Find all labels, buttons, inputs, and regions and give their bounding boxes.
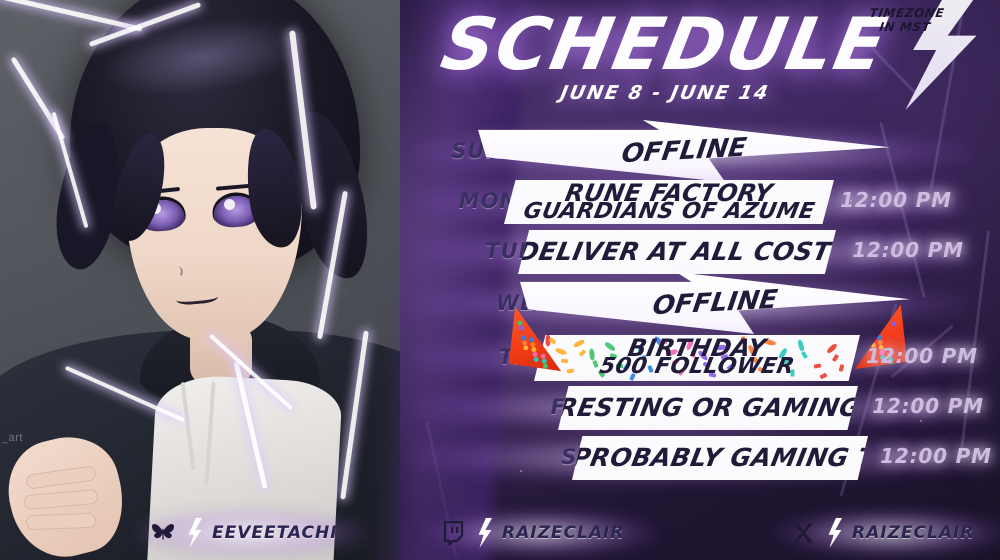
x-icon[interactable] <box>790 520 816 546</box>
stream-time: 12:00 PM <box>880 444 992 468</box>
social-handle: RAIZECLAIR <box>502 523 624 543</box>
hat-dot <box>523 345 528 350</box>
hat-dot <box>543 364 548 369</box>
schedule-row: SATPROBABLY GAMING TBH12:00 PM <box>400 432 1000 484</box>
timezone-line-1: TIMEZONE <box>869 6 946 20</box>
stream-time: 12:00 PM <box>852 238 964 262</box>
stream-time: 12:00 PM <box>872 394 984 418</box>
social-link-x[interactable]: RAIZECLAIR <box>790 514 974 552</box>
stream-subtitle: GUARDIANS OF AZUME <box>502 200 837 224</box>
stream-banner: BIRTHDAY500 FOLLOWER <box>534 335 860 381</box>
stream-title: DELIVER AT ALL COSTS <box>515 238 838 266</box>
twitch-icon[interactable] <box>440 520 466 546</box>
butterfly-icon[interactable] <box>150 520 176 546</box>
date-range: JUNE 8 - JUNE 14 <box>428 82 902 104</box>
eye-highlight <box>224 199 235 210</box>
artist-watermark: _art <box>2 432 23 444</box>
character-artwork: _art <box>0 0 432 560</box>
stream-time: 12:00 PM <box>840 188 952 212</box>
stream-banner: RUNE FACTORYGUARDIANS OF AZUME <box>504 180 834 224</box>
social-link-bluesky[interactable]: EEVEETACHI <box>150 514 338 552</box>
day-label-mon: MON <box>422 189 518 213</box>
schedule-rows: SUNOFFLINEMONRUNE FACTORYGUARDIANS OF AZ… <box>400 126 1000 486</box>
social-handle: EEVEETACHI <box>212 523 338 543</box>
schedule-row: SUNOFFLINE <box>400 126 1000 178</box>
timezone-note: TIMEZONE IN MST <box>844 6 968 34</box>
stream-time: 12:00 PM <box>866 344 978 368</box>
schedule-row: TUEDELIVER AT ALL COSTS12:00 PM <box>400 226 1000 278</box>
schedule-row: WEDOFFLINE <box>400 278 1000 330</box>
schedule-graphic: _art SCHEDULE JUNE 8 - JUNE 14 TIMEZONE … <box>0 0 1000 560</box>
schedule-row: THURBIRTHDAY500 FOLLOWER12:00 PM <box>400 332 1000 384</box>
social-handle: RAIZECLAIR <box>852 523 974 543</box>
schedule-row: FRIRESTING OR GAMING?12:00 PM <box>400 382 1000 434</box>
social-link-twitch[interactable]: RAIZECLAIR <box>440 514 624 552</box>
stream-subtitle: 500 FOLLOWER <box>532 355 863 379</box>
stream-title: RESTING OR GAMING? <box>555 394 860 422</box>
page-title: SCHEDULE <box>423 8 907 80</box>
stream-title: PROBABLY GAMING TBH <box>569 444 870 472</box>
hat-dot <box>534 357 539 362</box>
day-label-tue: TUE <box>438 239 534 263</box>
stream-banner: PROBABLY GAMING TBH <box>572 436 868 480</box>
schedule-row: MONRUNE FACTORYGUARDIANS OF AZUME12:00 P… <box>400 176 1000 228</box>
stream-banner: RESTING OR GAMING? <box>558 386 858 430</box>
stream-banner: DELIVER AT ALL COSTS <box>518 230 836 274</box>
timezone-line-2: IN MST <box>879 20 932 34</box>
socials-footer: EEVEETACHIRAIZECLAIRRAIZECLAIR <box>0 504 1000 560</box>
hat-dot <box>892 326 897 331</box>
